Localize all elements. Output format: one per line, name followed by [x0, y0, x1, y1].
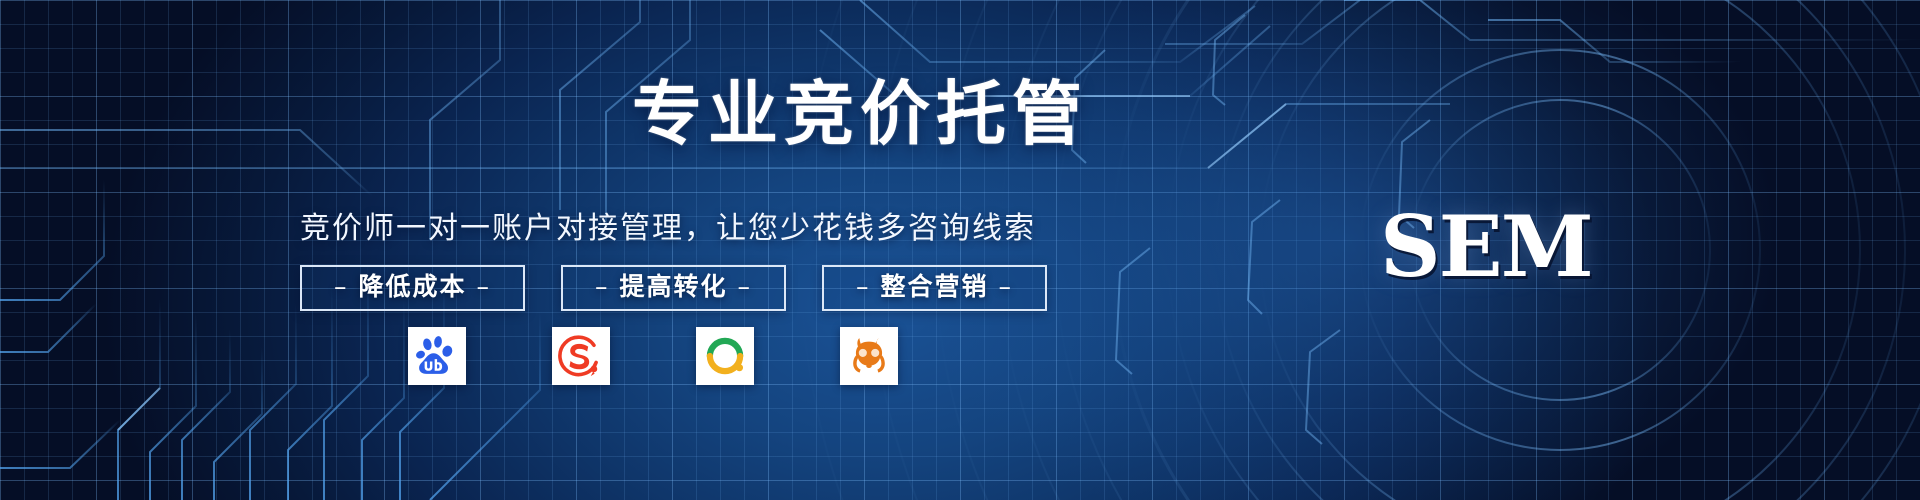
platform-logo-tile-baidu[interactable]: [408, 327, 466, 385]
sogou-logo-icon: [558, 333, 604, 379]
feature-badge-0[interactable]: –降低成本–: [300, 265, 525, 311]
feature-badge-list: –降低成本– –提高转化– –整合营销–: [300, 265, 1047, 311]
badge-label: 整合营销: [881, 272, 989, 301]
badge-dash-left: –: [846, 272, 881, 301]
platform-logo-tile-so360[interactable]: [696, 327, 754, 385]
badge-dash-right: –: [467, 272, 502, 301]
platform-logo-list: [408, 327, 898, 385]
feature-badge-2[interactable]: –整合营销–: [822, 265, 1047, 311]
platform-logo-tile-sogou[interactable]: [552, 327, 610, 385]
page-title: 专业竞价托管: [480, 58, 1240, 159]
shenma-logo-icon: [847, 334, 891, 378]
badge-dash-left: –: [324, 272, 359, 301]
sem-hosting-banner: 专业竞价托管 竞价师一对一账户对接管理，让您少花钱多咨询线索 –降低成本– –提…: [0, 0, 1920, 500]
badge-dash-right: –: [728, 272, 763, 301]
badge-label: 降低成本: [359, 272, 467, 301]
so360-logo-icon: [703, 334, 747, 378]
badge-dash-left: –: [585, 272, 620, 301]
platform-logo-tile-shenma[interactable]: [840, 327, 898, 385]
baidu-logo-icon: [415, 334, 459, 378]
feature-badge-1[interactable]: –提高转化–: [561, 265, 786, 311]
badge-dash-right: –: [989, 272, 1024, 301]
page-subtitle: 竞价师一对一账户对接管理，让您少花钱多咨询线索: [300, 203, 1420, 247]
badge-label: 提高转化: [620, 272, 728, 301]
brand-mark-sem: SEM: [1380, 205, 1592, 289]
